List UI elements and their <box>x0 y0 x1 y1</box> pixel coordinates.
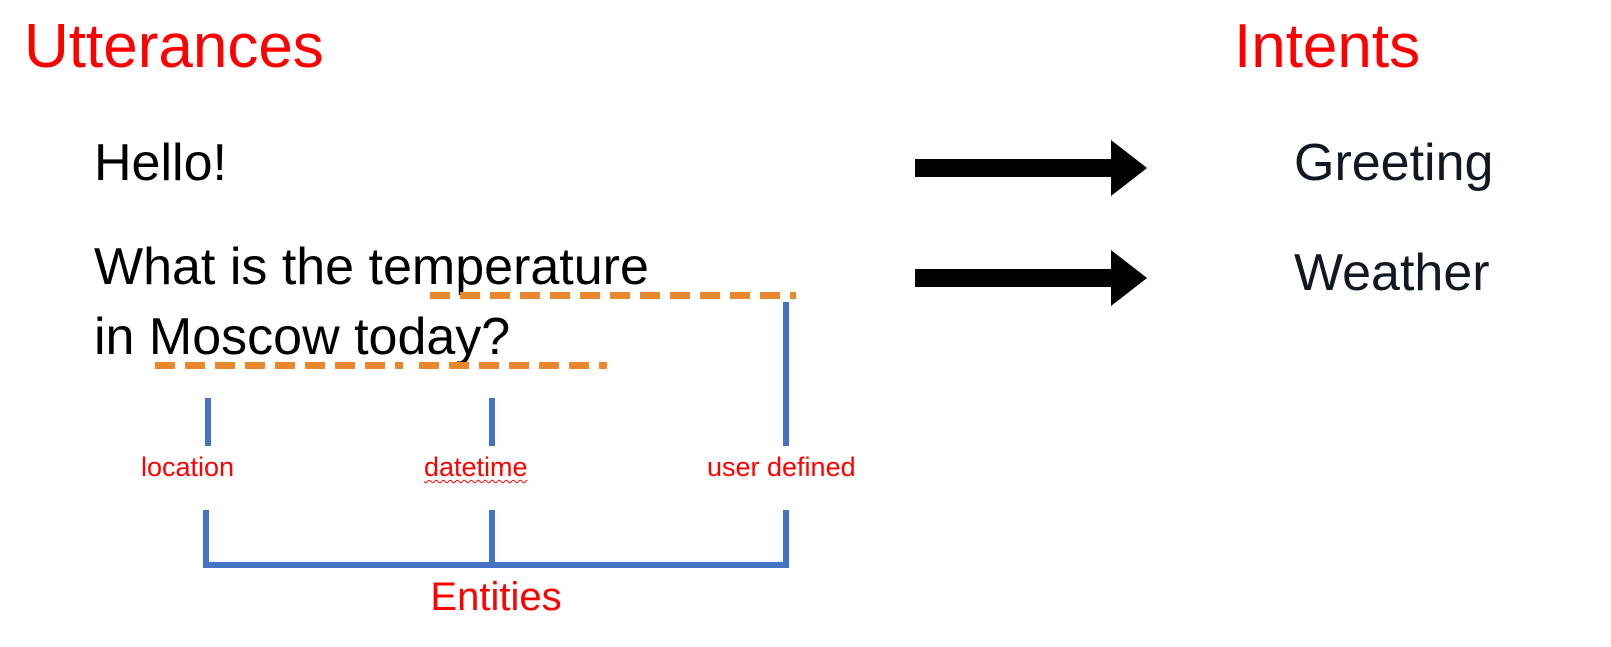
utterance-weather-question: What is the temperature in Moscow today? <box>94 232 649 372</box>
entity-underline-temperature <box>430 292 796 299</box>
utterance-hello: Hello! <box>94 128 227 198</box>
right-arrow-icon-greeting <box>915 140 1147 201</box>
entities-grouping-bracket <box>203 510 789 572</box>
entity-label-datetime: datetime <box>424 451 528 483</box>
bracket-base-line <box>203 562 789 568</box>
connector-line-location <box>205 398 211 446</box>
utterances-column-header: Utterances <box>24 14 324 80</box>
entities-group-label: Entities <box>203 572 789 622</box>
bracket-arm-left <box>203 510 209 568</box>
entity-underline-today <box>419 362 607 369</box>
diagram-canvas: Utterances Intents Hello! What is the te… <box>0 0 1611 647</box>
intent-greeting: Greeting <box>1294 128 1493 198</box>
right-arrow-icon-weather <box>915 250 1147 311</box>
connector-line-datetime <box>489 398 495 446</box>
entity-label-user-defined: user defined <box>707 451 856 483</box>
intents-column-header: Intents <box>1234 14 1420 80</box>
entity-label-location: location <box>141 451 234 483</box>
bracket-arm-right <box>783 510 789 568</box>
intent-weather: Weather <box>1294 238 1490 308</box>
connector-line-user-defined <box>783 302 789 446</box>
entity-underline-moscow <box>155 362 403 369</box>
bracket-arm-middle <box>489 510 495 568</box>
